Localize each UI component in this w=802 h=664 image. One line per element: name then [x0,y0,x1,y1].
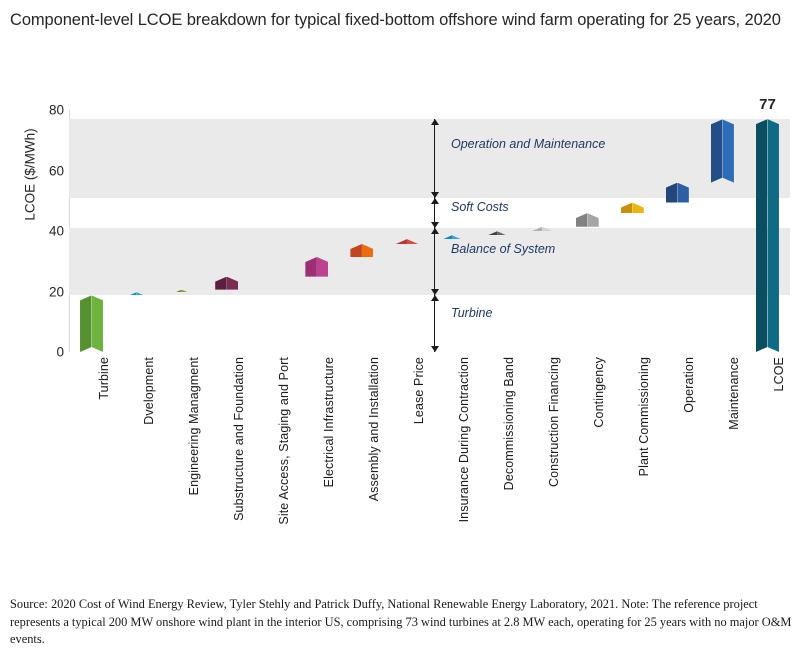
total-value-label: 77 [747,96,787,113]
y-axis-ticks: 020406080 [14,110,64,352]
x-tick-label: Lease Price [412,357,426,424]
x-tick-label: LCOE [772,357,786,391]
category-bracket [434,295,435,352]
x-tick-label: Contingency [592,357,606,428]
category-bracket [434,228,435,295]
y-tick-label: 80 [24,103,64,118]
category-bracket-label: Soft Costs [451,200,509,214]
y-tick-label: 20 [24,284,64,299]
category-brackets: Operation and MaintenanceSoft CostsBalan… [69,110,790,352]
x-tick-label: Engineering Managment [187,357,201,495]
plot-region: Operation and MaintenanceSoft CostsBalan… [69,110,790,352]
x-tick-label: Maintenance [727,357,741,430]
x-tick-label: Electrical Infrastructure [322,357,336,487]
x-tick-label: Turbine [97,357,111,400]
category-bracket-label: Balance of System [451,242,555,256]
category-bracket [434,198,435,228]
category-bracket-label: Turbine [451,306,492,320]
source-footnote: Source: 2020 Cost of Wind Energy Review,… [10,596,796,649]
x-tick-label: Assembly and Installation [367,357,381,501]
x-tick-label: Plant Commissioning [637,357,651,476]
x-tick-label: Decommissioning Band [502,357,516,490]
chart-canvas: LCOE ($/MWh) 020406080 Operation and Mai… [0,95,802,575]
x-tick-label: Insurance During Contraction [457,357,471,522]
x-tick-label: Dvelopment [142,357,156,425]
x-tick-label: Site Access, Staging and Port [277,357,291,525]
page-title: Component-level LCOE breakdown for typic… [10,8,792,33]
y-tick-label: 0 [24,345,64,360]
footnote-divider [0,585,802,586]
y-tick-label: 40 [24,224,64,239]
y-tick-label: 60 [24,163,64,178]
category-bracket-label: Operation and Maintenance [451,137,605,151]
x-tick-label: Substructure and Foundation [232,357,246,521]
x-tick-label: Construction Financing [547,357,561,487]
x-axis-labels: TurbineDvelopmentEngineering ManagmentSu… [69,357,790,572]
x-tick-label: Operation [682,357,696,413]
category-bracket [434,119,435,198]
